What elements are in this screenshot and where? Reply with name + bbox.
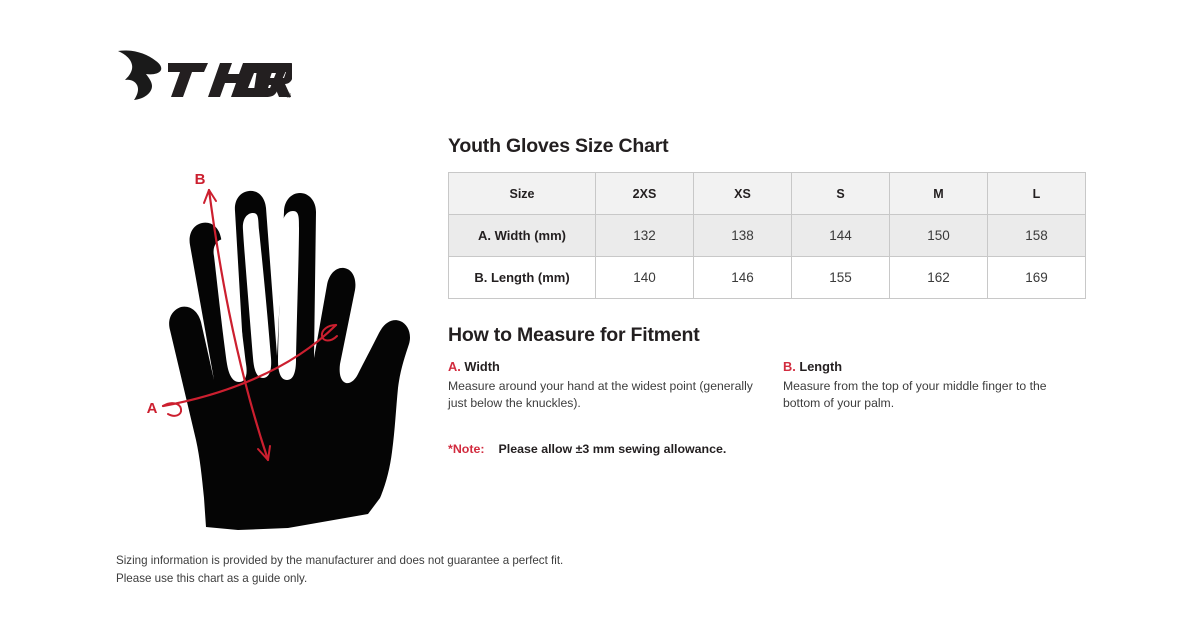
column-header-m: M [890,173,988,215]
hand-measurement-diagram: B A [118,168,418,533]
column-header-2xs: 2XS [596,173,694,215]
row-label-width: A. Width (mm) [449,215,596,257]
row-label-length: B. Length (mm) [449,257,596,299]
measure-description-width: Measure around your hand at the widest p… [448,378,775,413]
thor-wordmark [168,63,292,97]
cell-width-m: 150 [890,215,988,257]
table-header-row: Size 2XS XS S M L [449,173,1086,215]
disclaimer-footer: Sizing information is provided by the ma… [116,552,676,587]
table-row: A. Width (mm) 132 138 144 150 158 [449,215,1086,257]
measure-item-heading: A. Width [448,359,775,376]
column-header-s: S [792,173,890,215]
table-body: A. Width (mm) 132 138 144 150 158 B. Len… [449,215,1086,299]
glove-diagram-svg: B A [118,168,418,533]
measure-name-width: Width [464,359,499,374]
cell-length-s: 155 [792,257,890,299]
disclaimer-line-1: Sizing information is provided by the ma… [116,552,676,570]
how-to-measure-title: How to Measure for Fitment [448,325,1088,346]
cell-width-2xs: 132 [596,215,694,257]
column-header-size: Size [449,173,596,215]
measure-instructions: A. Width Measure around your hand at the… [448,359,1088,412]
table-row: B. Length (mm) 140 146 155 162 169 [449,257,1086,299]
cell-width-s: 144 [792,215,890,257]
sewing-allowance-note: *Note: Please allow ±3 mm sewing allowan… [448,442,1088,456]
measure-item-length: B. Length Measure from the top of your m… [783,359,1088,412]
trademark-symbol: ® [286,92,292,100]
thor-brand-logo: ® [116,47,292,105]
size-chart-table: Size 2XS XS S M L A. Width (mm) 132 138 … [448,172,1086,299]
measure-name-length: Length [799,359,842,374]
size-chart-content: Youth Gloves Size Chart Size 2XS XS S M … [448,136,1088,456]
cell-length-xs: 146 [694,257,792,299]
cell-length-l: 169 [988,257,1086,299]
thor-logo-svg: ® [116,47,292,105]
column-header-xs: XS [694,173,792,215]
note-label: *Note: [448,442,484,456]
note-text: Please allow ±3 mm sewing allowance. [498,442,726,456]
length-marker-label: B [195,171,206,188]
cell-length-2xs: 140 [596,257,694,299]
page-title: Youth Gloves Size Chart [448,136,1088,157]
measure-description-length: Measure from the top of your middle fing… [783,378,1080,413]
measure-item-heading: B. Length [783,359,1080,376]
measure-letter-a: A. [448,359,461,374]
column-header-l: L [988,173,1086,215]
measure-letter-b: B. [783,359,796,374]
disclaimer-line-2: Please use this chart as a guide only. [116,570,676,588]
cell-length-m: 162 [890,257,988,299]
table-header: Size 2XS XS S M L [449,173,1086,215]
width-marker-label: A [147,400,158,417]
thor-helmet-icon [117,50,161,100]
cell-width-l: 158 [988,215,1086,257]
cell-width-xs: 138 [694,215,792,257]
measure-item-width: A. Width Measure around your hand at the… [448,359,783,412]
